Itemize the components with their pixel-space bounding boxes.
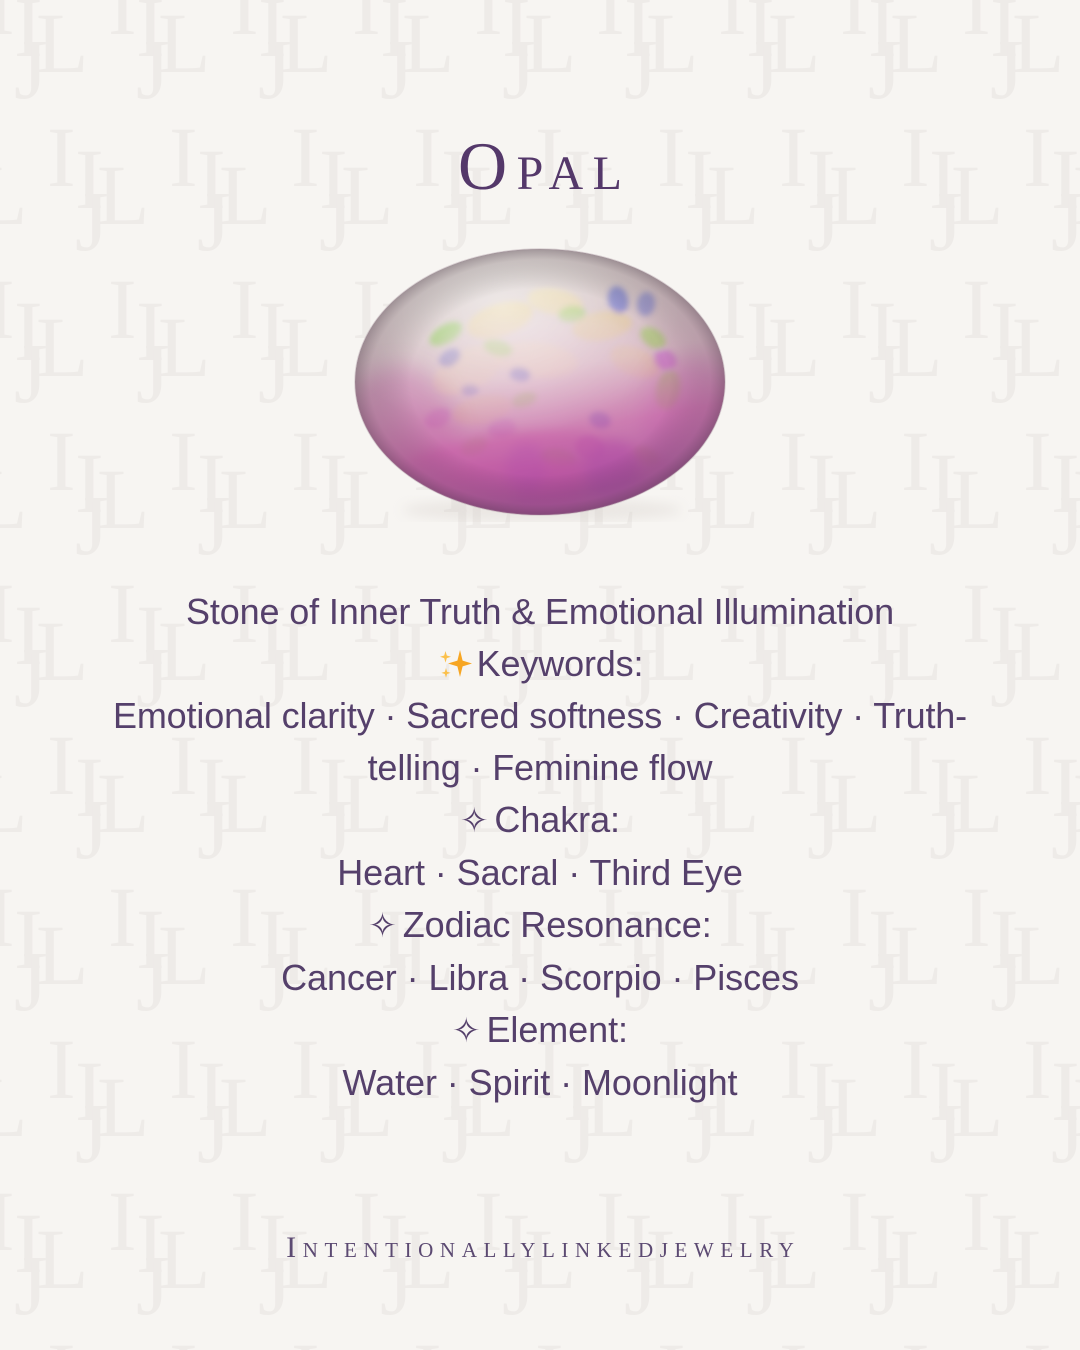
section-values-zodiac: Cancer · Libra · Scorpio · Pisces — [40, 952, 1040, 1004]
title-block: Opal — [449, 128, 632, 204]
diamond-star-icon: ✧ — [452, 1012, 480, 1050]
section-heading-label: Element: — [486, 1009, 628, 1050]
section-heading-label: Keywords: — [477, 643, 644, 684]
section-heading-chakra: ✧Chakra: — [40, 794, 1040, 847]
section-heading-zodiac: ✧Zodiac Resonance: — [40, 899, 1040, 952]
section-values-keywords: Emotional clarity · Sacred softness · Cr… — [40, 690, 1040, 794]
page-root: Opal — [0, 0, 1080, 1350]
section-heading-keywords: Keywords: — [40, 638, 1040, 690]
opal-cabochon-icon — [350, 242, 730, 522]
diamond-star-icon: ✧ — [368, 907, 396, 945]
diamond-star-icon: ✧ — [460, 802, 488, 840]
footer-block: Intentionallylinkedjewelry — [0, 1233, 1080, 1263]
section-heading-label: Zodiac Resonance: — [403, 904, 712, 945]
section-heading-label: Chakra: — [494, 799, 620, 840]
section-values-element: Water · Spirit · Moonlight — [40, 1057, 1040, 1109]
brand-wordmark: Intentionallylinkedjewelry — [0, 1233, 1080, 1263]
page-title: Opal — [449, 132, 632, 200]
sparkles-icon — [437, 648, 475, 682]
gemstone-image — [350, 242, 730, 522]
tagline: Stone of Inner Truth & Emotional Illumin… — [40, 586, 1040, 638]
section-values-chakra: Heart · Sacral · Third Eye — [40, 847, 1040, 899]
description-block: Stone of Inner Truth & Emotional Illumin… — [40, 586, 1040, 1109]
section-heading-element: ✧Element: — [40, 1004, 1040, 1057]
